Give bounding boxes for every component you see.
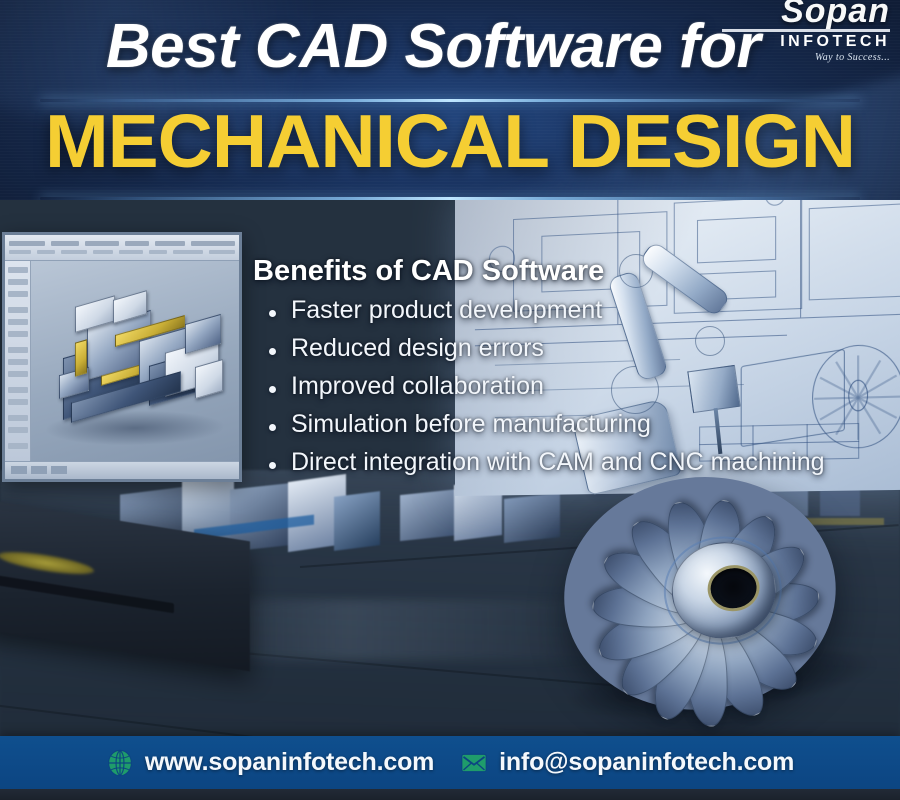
turbine-impeller [532,449,890,737]
cad-model-shadow [39,411,232,445]
benefit-item: Simulation before manufacturing [253,410,883,439]
benefits-heading: Benefits of CAD Software [253,255,883,288]
email-text: info@sopaninfotech.com [499,748,794,777]
poster-canvas: Best CAD Software for MECHANICAL DESIGN … [0,0,900,800]
cad-monitor [2,232,242,482]
page-title-line2: MECHANICAL DESIGN [0,104,900,179]
logo-tagline: Way to Success... [710,52,890,63]
globe-icon [106,749,134,777]
footer-bottom-strip [0,789,900,800]
footer-website[interactable]: www.sopaninfotech.com [106,748,434,777]
cad-tool-palette [5,261,31,461]
logo-rule [722,29,890,32]
logo-wordmark: Sopan [710,0,890,28]
envelope-icon [460,749,488,777]
bench-slot [0,575,174,614]
benefit-item: Direct integration with CAM and CNC mach… [253,448,883,477]
brand-logo[interactable]: Sopan INFOTECH Way to Success... [710,0,890,54]
footer-contact-bar: www.sopaninfotech.com info@sopaninfotech… [0,736,900,789]
benefits-block: Benefits of CAD Software Faster product … [253,255,883,486]
website-text: www.sopaninfotech.com [145,748,434,777]
cad-status-bar [5,461,239,479]
footer-email[interactable]: info@sopaninfotech.com [460,748,794,777]
logo-subtext: INFOTECH [710,34,890,50]
header-band: Best CAD Software for MECHANICAL DESIGN … [0,0,900,200]
benefit-item: Reduced design errors [253,334,883,363]
benefit-item: Improved collaboration [253,372,883,401]
cad-viewport [31,261,239,461]
divider-glow-bottom [40,197,860,200]
cad-toolbar [5,235,239,261]
benefits-list: Faster product development Reduced desig… [253,296,883,477]
benefit-item: Faster product development [253,296,883,325]
